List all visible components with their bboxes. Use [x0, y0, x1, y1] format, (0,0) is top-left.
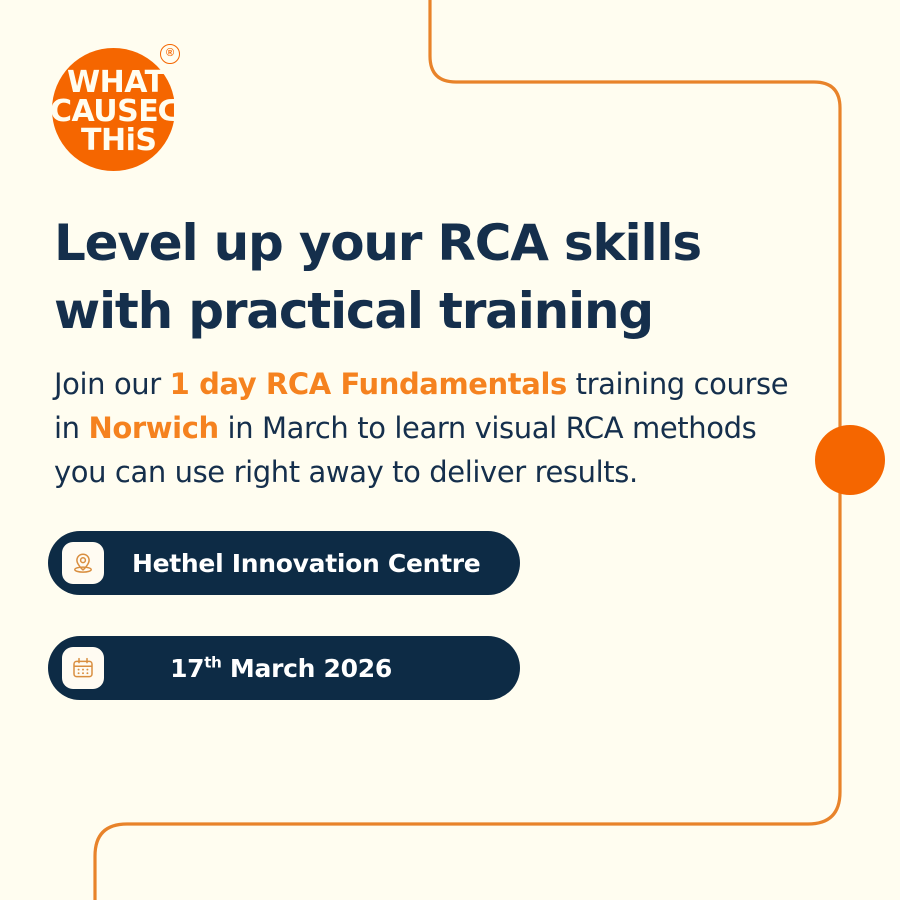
body-description: Join our 1 day RCA Fundamentals training… — [54, 362, 794, 494]
logo-line-this: THiS — [81, 126, 156, 156]
map-pin-glyph — [70, 550, 96, 576]
brand-logo: ® WHAT CAUSED THiS — [48, 38, 188, 178]
venue-label: Hethel Innovation Centre — [132, 549, 480, 578]
logo-flipped-d-icon: D — [158, 97, 182, 127]
logo-wordmark: WHAT CAUSED THiS — [48, 54, 188, 164]
page-title: Level up your RCA skills with practical … — [54, 209, 754, 345]
calendar-glyph — [70, 655, 96, 681]
body-part-1: Join our — [54, 367, 170, 401]
poster-canvas: ® WHAT CAUSED THiS Level up your RCA ski… — [0, 0, 900, 900]
venue-pill[interactable]: Hethel Innovation Centre — [48, 531, 520, 595]
date-day: 17 — [170, 654, 204, 683]
body-highlight-city: Norwich — [88, 411, 218, 445]
map-pin-icon — [62, 542, 104, 584]
date-ordinal: th — [204, 653, 221, 671]
date-pill[interactable]: 17th March 2026 — [48, 636, 520, 700]
track-dot — [815, 425, 885, 495]
calendar-icon — [62, 647, 104, 689]
date-month-year: March 2026 — [222, 654, 392, 683]
body-highlight-course: 1 day RCA Fundamentals — [170, 367, 567, 401]
date-label: 17th March 2026 — [170, 654, 432, 683]
